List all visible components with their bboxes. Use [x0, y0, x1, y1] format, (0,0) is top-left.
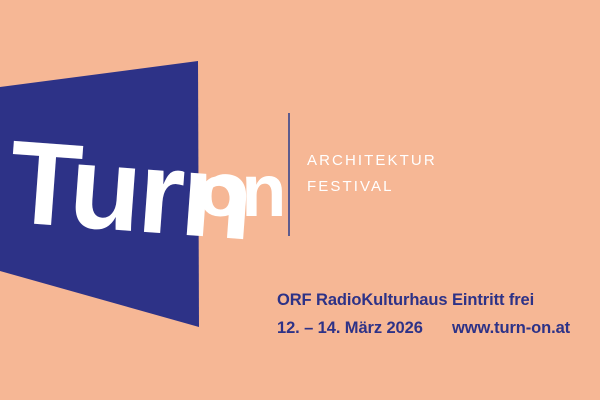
festival-subtitle: ARCHITEKTUR FESTIVAL: [307, 148, 437, 200]
blue-polygon-svg: [0, 0, 210, 400]
subtitle-line-architektur: ARCHITEKTUR: [307, 148, 437, 174]
dates-label: 12. – 14. März 2026: [277, 314, 452, 342]
subtitle-line-festival: FESTIVAL: [307, 174, 437, 200]
logo-word-on: on: [198, 149, 284, 232]
info-row-venue-admission: ORF RadioKulturhaus Eintritt frei: [277, 286, 577, 314]
poster-canvas: Turn on ARCHITEKTUR FESTIVAL ORF RadioKu…: [0, 0, 600, 400]
admission-label: Eintritt frei: [452, 286, 534, 314]
blue-trapezoid: [0, 61, 199, 327]
blue-banner-shape: [0, 0, 210, 400]
event-info-block: ORF RadioKulturhaus Eintritt frei 12. – …: [277, 286, 577, 342]
vertical-divider: [288, 113, 290, 236]
venue-label: ORF RadioKulturhaus: [277, 286, 452, 314]
website-link[interactable]: www.turn-on.at: [452, 314, 570, 342]
info-row-dates-website: 12. – 14. März 2026 www.turn-on.at: [277, 314, 577, 342]
